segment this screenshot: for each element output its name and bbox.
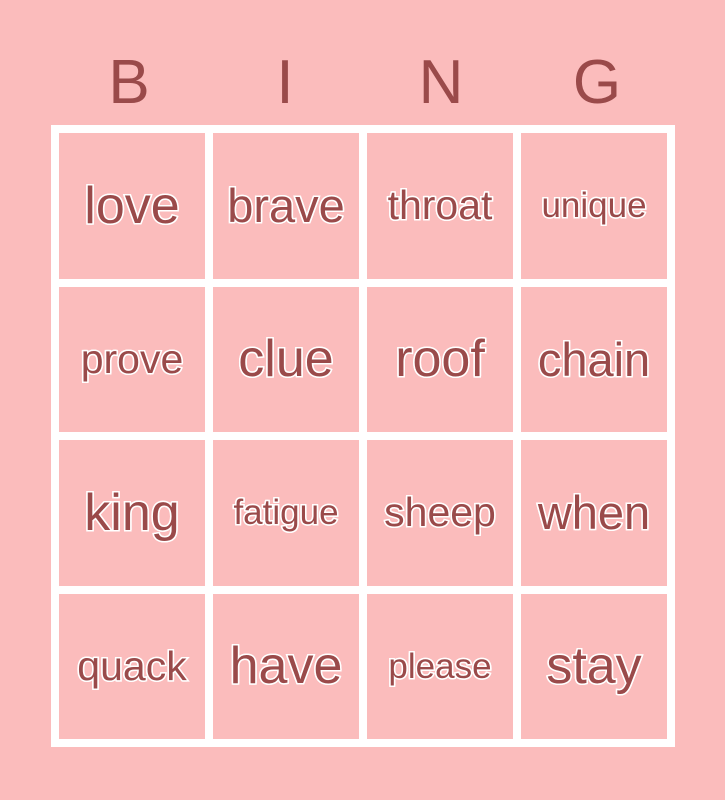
bingo-cell-r3-c2[interactable]: fatigue bbox=[213, 440, 359, 586]
header-letter-n: N bbox=[363, 44, 519, 122]
bingo-card: B I N G lovebravethroatuniqueprovecluero… bbox=[0, 0, 725, 800]
bingo-cell-word: love bbox=[84, 180, 179, 232]
bingo-cell-r4-c1[interactable]: quack bbox=[59, 594, 205, 740]
bingo-cell-word: throat bbox=[388, 185, 493, 226]
bingo-cell-r4-c2[interactable]: have bbox=[213, 594, 359, 740]
bingo-cell-r3-c4[interactable]: when bbox=[521, 440, 667, 586]
bingo-cell-word: stay bbox=[546, 640, 641, 692]
bingo-cell-word: clue bbox=[238, 333, 333, 385]
bingo-cell-word: sheep bbox=[384, 492, 496, 533]
bingo-header: B I N G bbox=[51, 44, 675, 122]
bingo-cell-r2-c3[interactable]: roof bbox=[367, 287, 513, 433]
bingo-cell-r2-c2[interactable]: clue bbox=[213, 287, 359, 433]
bingo-cell-r2-c4[interactable]: chain bbox=[521, 287, 667, 433]
bingo-cell-word: quack bbox=[77, 646, 186, 687]
header-letter-b: B bbox=[51, 44, 207, 122]
bingo-cell-word: have bbox=[230, 640, 343, 692]
bingo-cell-r2-c1[interactable]: prove bbox=[59, 287, 205, 433]
bingo-grid: lovebravethroatuniqueproveclueroofchaink… bbox=[51, 125, 675, 747]
bingo-cell-r4-c4[interactable]: stay bbox=[521, 594, 667, 740]
bingo-cell-word: prove bbox=[81, 339, 184, 380]
bingo-cell-r4-c3[interactable]: please bbox=[367, 594, 513, 740]
bingo-cell-word: roof bbox=[395, 333, 485, 385]
bingo-cell-word: brave bbox=[227, 182, 345, 229]
bingo-cell-word: fatigue bbox=[233, 495, 338, 530]
bingo-cell-r1-c3[interactable]: throat bbox=[367, 133, 513, 279]
bingo-cell-r1-c1[interactable]: love bbox=[59, 133, 205, 279]
bingo-cell-r3-c3[interactable]: sheep bbox=[367, 440, 513, 586]
header-letter-i: I bbox=[207, 44, 363, 122]
bingo-cell-r1-c2[interactable]: brave bbox=[213, 133, 359, 279]
bingo-cell-word: when bbox=[538, 489, 650, 536]
bingo-cell-r3-c1[interactable]: king bbox=[59, 440, 205, 586]
bingo-cell-r1-c4[interactable]: unique bbox=[521, 133, 667, 279]
bingo-cell-word: please bbox=[388, 649, 491, 684]
bingo-cell-word: unique bbox=[541, 188, 646, 223]
bingo-cell-word: king bbox=[84, 487, 179, 539]
bingo-cell-word: chain bbox=[538, 336, 650, 383]
header-letter-g: G bbox=[519, 44, 675, 122]
